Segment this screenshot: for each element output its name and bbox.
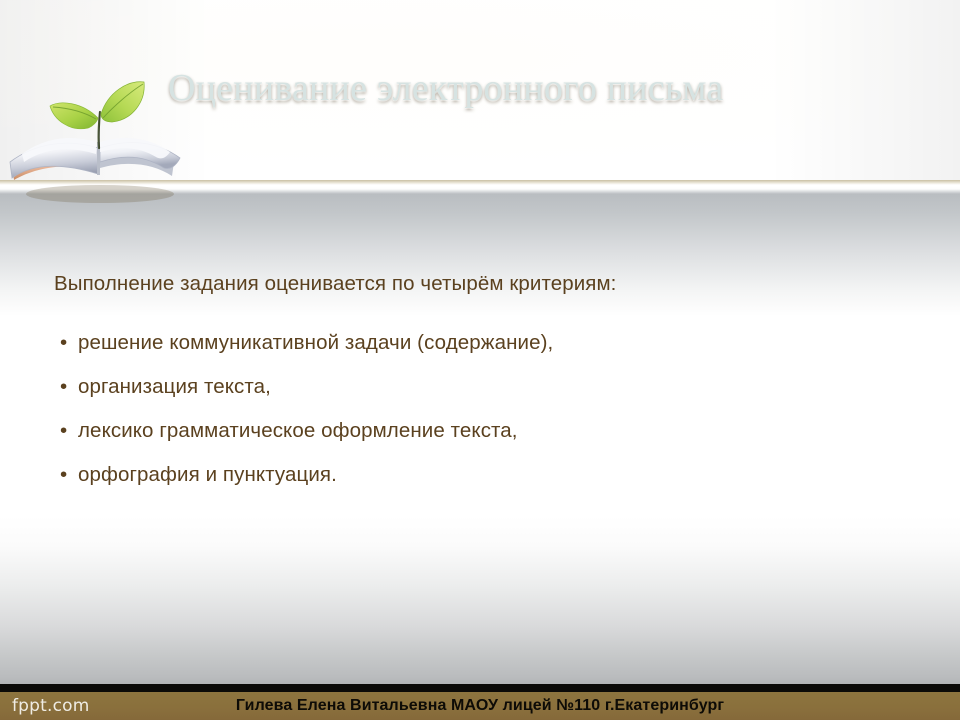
criteria-list: • решение коммуникативной задачи (содерж…	[54, 328, 874, 504]
bullet-icon: •	[60, 328, 67, 358]
lead-paragraph: Выполнение задания оценивается по четырё…	[54, 272, 616, 296]
bullet-icon: •	[60, 372, 67, 402]
fppt-watermark[interactable]: fppt.com	[12, 692, 90, 720]
slide-footer: Гилева Елена Витальевна МАОУ лицей №110 …	[0, 692, 960, 720]
list-item-label: орфография и пунктуация.	[78, 463, 337, 486]
presentation-slide: Оценивание электронного письма	[0, 0, 960, 720]
bullet-icon: •	[60, 460, 67, 490]
footer-credit-text: Гилева Елена Витальевна МАОУ лицей №110 …	[0, 692, 960, 720]
bullet-icon: •	[60, 416, 67, 446]
list-item: • лексико грамматическое оформление текс…	[54, 416, 874, 460]
list-item-label: решение коммуникативной задачи (содержан…	[78, 331, 553, 354]
list-item-label: лексико грамматическое оформление текста…	[78, 419, 518, 442]
page-title: Оценивание электронного письма	[168, 64, 888, 112]
list-item: • решение коммуникативной задачи (содерж…	[54, 328, 874, 372]
list-item-label: организация текста,	[78, 375, 271, 398]
slide-content: Выполнение задания оценивается по четырё…	[0, 186, 960, 684]
footer-divider	[0, 684, 960, 692]
list-item: • организация текста,	[54, 372, 874, 416]
list-item: • орфография и пунктуация.	[54, 460, 874, 504]
